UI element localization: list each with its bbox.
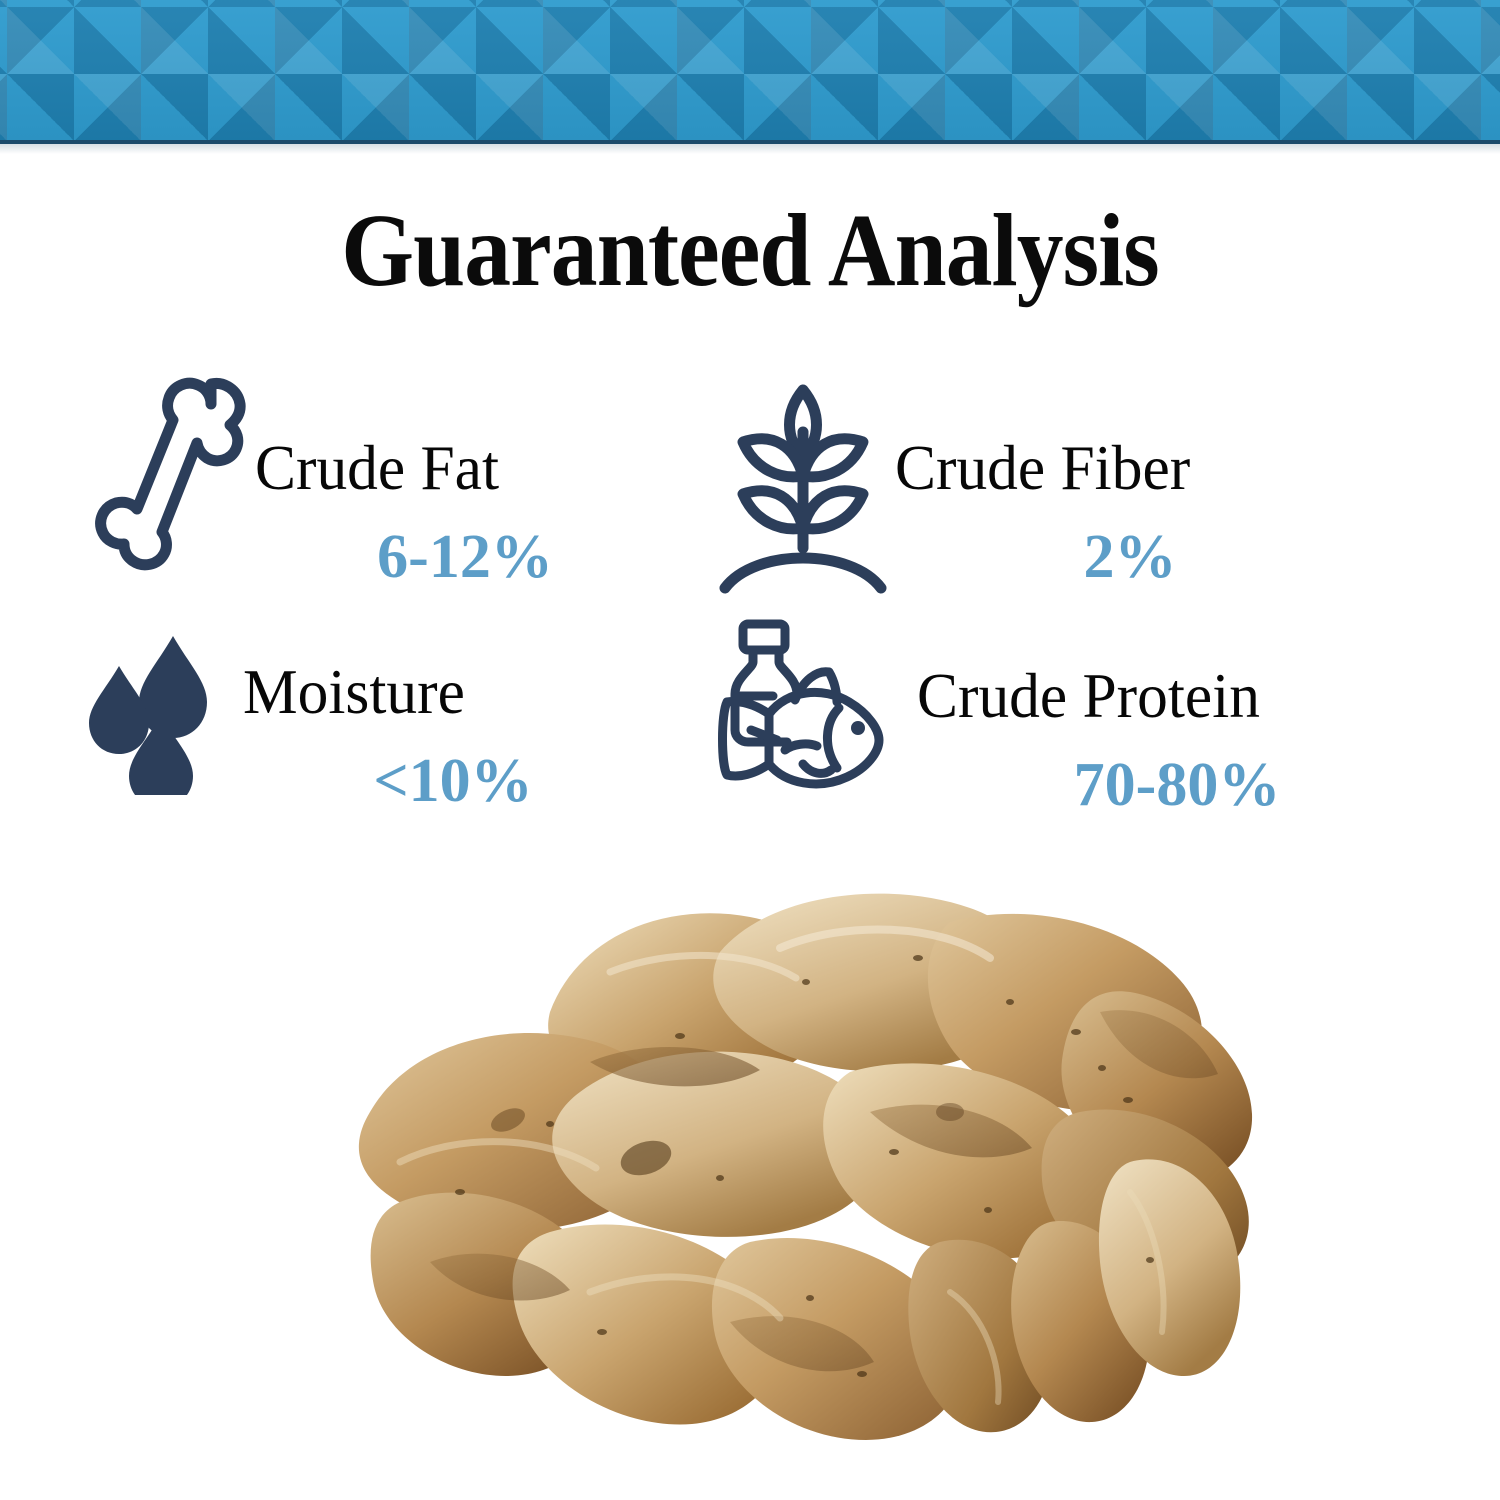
stat-item-crude-fat: Crude Fat 6-12%: [75, 368, 695, 618]
fish-oil-bottle-icon: [707, 618, 907, 803]
page-title: Guaranteed Analysis: [75, 196, 1425, 306]
stat-label: Crude Protein: [917, 664, 1416, 728]
stat-value: 6-12%: [255, 526, 675, 588]
stat-item-crude-fiber: Crude Fiber 2%: [695, 368, 1435, 618]
stat-item-moisture: Moisture <10%: [75, 618, 695, 838]
stat-label: Moisture: [243, 660, 646, 724]
header-sheen: [0, 0, 1500, 142]
stat-value: 70-80%: [917, 754, 1437, 816]
stat-text-moisture: Moisture <10%: [243, 660, 663, 812]
guaranteed-analysis-grid: Crude Fat 6-12%: [75, 368, 1435, 838]
water-droplets-icon: [85, 630, 235, 795]
stat-item-crude-protein: Crude Protein 70-80%: [695, 618, 1435, 838]
header-gingham-band: [0, 0, 1500, 142]
stat-value: 2%: [895, 526, 1365, 588]
wheat-plant-icon: [713, 380, 893, 595]
product-photo-cow-ear-chews: [250, 862, 1270, 1474]
stat-text-crude-fiber: Crude Fiber 2%: [895, 436, 1365, 588]
header-drop-shadow: [0, 144, 1500, 154]
stat-value: <10%: [243, 750, 663, 812]
stat-label: Crude Fat: [255, 436, 658, 500]
stat-text-crude-protein: Crude Protein 70-80%: [917, 664, 1437, 816]
bone-icon: [93, 372, 258, 587]
stat-text-crude-fat: Crude Fat 6-12%: [255, 436, 675, 588]
stat-label: Crude Fiber: [895, 436, 1346, 500]
